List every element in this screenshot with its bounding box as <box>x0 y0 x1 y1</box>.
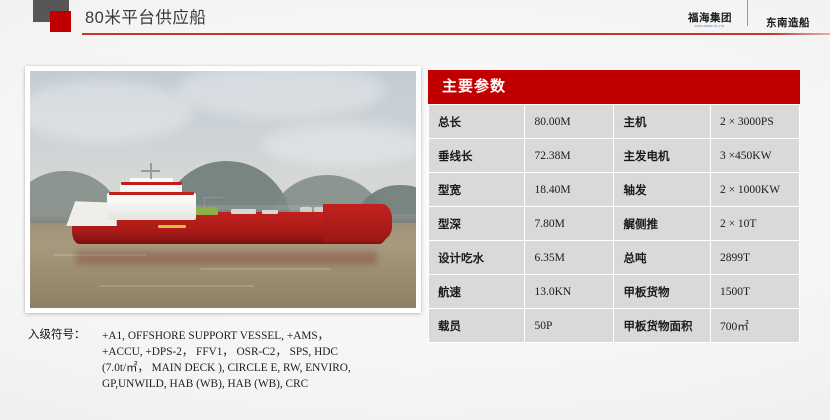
spec-value: 700㎡ <box>710 309 799 343</box>
table-row: 载员 50P 甲板货物面积 700㎡ <box>429 309 800 343</box>
spec-table: 总长 80.00M 主机 2 × 3000PS 垂线长 72.38M 主发电机 … <box>428 104 800 343</box>
vessel-photo <box>30 71 416 308</box>
classification-line: (7.0t/㎡， MAIN DECK ), CIRCLE E, RW, ENVI… <box>102 360 423 376</box>
photo-hull-reflection <box>76 251 377 265</box>
spec-value: 1500T <box>710 275 799 309</box>
table-row: 航速 13.0KN 甲板货物 1500T <box>429 275 800 309</box>
vessel-mast-arm <box>141 170 160 172</box>
vessel-deck-equipment <box>231 209 256 214</box>
spec-key: 主机 <box>614 105 710 139</box>
spec-key: 总长 <box>429 105 525 139</box>
table-row: 垂线长 72.38M 主发电机 3 ×450KW <box>429 139 800 173</box>
vessel-red-trim <box>121 182 181 185</box>
classification-note: 入级符号： +A1, OFFSHORE SUPPORT VESSEL, +AMS… <box>28 327 423 392</box>
table-row: 型深 7.80M 艉侧推 2 × 10T <box>429 207 800 241</box>
spec-key: 航速 <box>429 275 525 309</box>
spec-panel: 主要参数 总长 80.00M 主机 2 × 3000PS 垂线长 72.38M … <box>428 70 800 343</box>
spec-key: 甲板货物面积 <box>614 309 710 343</box>
spec-value: 6.35M <box>525 241 614 275</box>
page-title: 80米平台供应船 <box>85 4 206 28</box>
vessel-photo-frame <box>25 66 421 313</box>
spec-key: 总吨 <box>614 241 710 275</box>
classification-line: GP,UNWILD, HAB (WB), HAB (WB), CRC <box>102 376 423 392</box>
spec-value: 72.38M <box>525 139 614 173</box>
spec-key: 轴发 <box>614 173 710 207</box>
photo-vessel <box>72 192 389 244</box>
classification-line: +ACCU, +DPS-2， FFV1， OSR-C2， SPS, HDC <box>102 344 423 360</box>
spec-value: 2899T <box>710 241 799 275</box>
table-row: 设计吃水 6.35M 总吨 2899T <box>429 241 800 275</box>
spec-panel-title: 主要参数 <box>428 70 800 104</box>
vessel-stern <box>323 204 393 242</box>
photo-wave <box>99 285 253 287</box>
slide-header: 80米平台供应船 福海集团 FUHAI GROUP CO.,LTD. <box>0 0 830 42</box>
spec-value: 2 × 3000PS <box>710 105 799 139</box>
spec-key: 甲板货物 <box>614 275 710 309</box>
spec-value: 13.0KN <box>525 275 614 309</box>
spec-key: 设计吃水 <box>429 241 525 275</box>
logo-fuhai-en-text: FUHAI GROUP CO.,LTD. <box>695 25 725 28</box>
vessel-deck-equipment <box>262 210 278 214</box>
spec-key: 艉侧推 <box>614 207 710 241</box>
logo-southeast-cn-text: 东南造船 <box>766 18 810 29</box>
table-row: 型宽 18.40M 轴发 2 × 1000KW <box>429 173 800 207</box>
decor-red-square <box>50 11 71 32</box>
spec-value: 7.80M <box>525 207 614 241</box>
photo-wave <box>200 268 331 270</box>
vessel-superstructure <box>107 176 196 220</box>
spec-key: 主发电机 <box>614 139 710 173</box>
logo-fuhai-group: 福海集团 FUHAI GROUP CO.,LTD. <box>673 0 747 32</box>
classification-line: +A1, OFFSHORE SUPPORT VESSEL, +AMS， <box>102 328 423 344</box>
logo-group: 福海集团 FUHAI GROUP CO.,LTD. 东南造船 <box>673 0 828 32</box>
spec-key: 型宽 <box>429 173 525 207</box>
photo-cloud <box>262 123 416 166</box>
spec-key: 型深 <box>429 207 525 241</box>
wave-crest-icon <box>689 0 731 2</box>
spec-value: 18.40M <box>525 173 614 207</box>
logo-fuhai-cn-text: 福海集团 <box>688 13 732 24</box>
vessel-red-trim <box>109 192 194 195</box>
spec-value: 50P <box>525 309 614 343</box>
spec-value: 80.00M <box>525 105 614 139</box>
vessel-rescue-zone-marking <box>158 225 186 229</box>
classification-body: +A1, OFFSHORE SUPPORT VESSEL, +AMS， +ACC… <box>28 328 423 392</box>
spec-key: 载员 <box>429 309 525 343</box>
logo-southeast-shipyard: 东南造船 <box>748 0 828 32</box>
table-row: 总长 80.00M 主机 2 × 3000PS <box>429 105 800 139</box>
spec-key: 垂线长 <box>429 139 525 173</box>
classification-label: 入级符号： <box>28 329 86 341</box>
spec-value: 2 × 10T <box>710 207 799 241</box>
slide-background: 80米平台供应船 福海集团 FUHAI GROUP CO.,LTD. <box>0 0 830 420</box>
header-divider-line <box>82 33 830 35</box>
spec-value: 3 ×450KW <box>710 139 799 173</box>
spec-value: 2 × 1000KW <box>710 173 799 207</box>
